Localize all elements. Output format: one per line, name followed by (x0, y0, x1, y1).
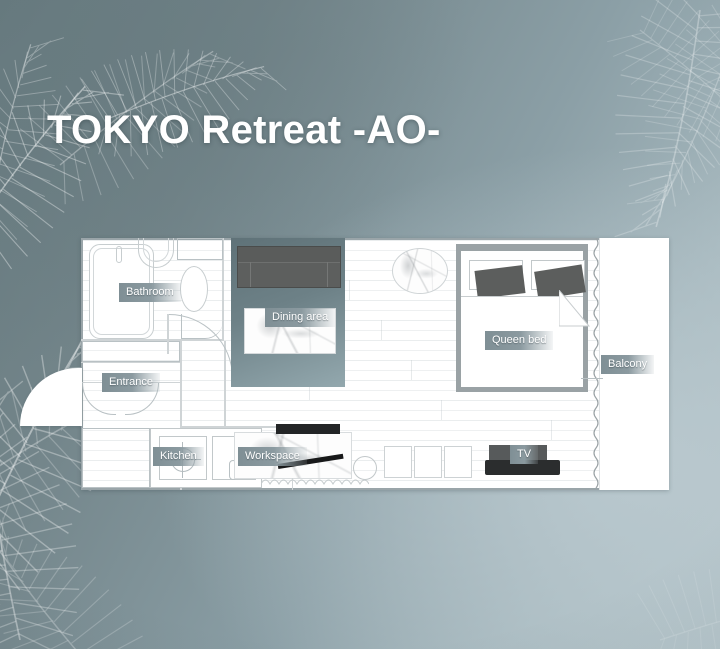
bathtub-tap-icon (116, 246, 122, 263)
sofa-arm-right (327, 262, 340, 287)
wall-corridor (81, 362, 181, 363)
floor-plan-poster: TOKYO Retreat -AO- (0, 0, 720, 649)
label-entrance: Entrance (102, 373, 160, 392)
curtain-divider-icon (593, 238, 599, 490)
label-tv: TV (510, 445, 538, 464)
label-bathroom: Bathroom (119, 283, 181, 302)
sofa-icon (237, 246, 341, 288)
workspace-center-line (292, 478, 293, 490)
entrance-shoe-cabinet (82, 341, 180, 362)
cabinet-door-1 (384, 446, 412, 478)
page-title: TOKYO Retreat -AO- (47, 108, 441, 153)
cabinet-door-3 (444, 446, 472, 478)
bed-turndown-fold (559, 290, 591, 330)
door-leaf (167, 314, 169, 354)
cushion-left (474, 265, 525, 299)
label-dining-area: Dining area (265, 308, 335, 327)
label-queen-bed: Queen bed (485, 331, 553, 350)
entrance-lower-cabinet (82, 428, 150, 488)
label-kitchen: Kitchen (153, 447, 204, 466)
round-rug-icon (392, 248, 448, 294)
laptop-icon (276, 424, 340, 434)
sofa-backrest (238, 247, 340, 263)
wall-bottom (81, 488, 669, 490)
scalloped-rug-icon (261, 476, 369, 485)
bed-headboard (456, 244, 588, 251)
bathroom-vanity-counter (177, 238, 223, 260)
balcony-railing-tick (581, 378, 603, 379)
cabinet-door-2 (414, 446, 442, 478)
label-workspace: Workspace (238, 447, 307, 466)
toilet-icon (180, 266, 208, 312)
label-balcony: Balcony (601, 355, 654, 374)
sofa-arm-left (238, 262, 251, 287)
